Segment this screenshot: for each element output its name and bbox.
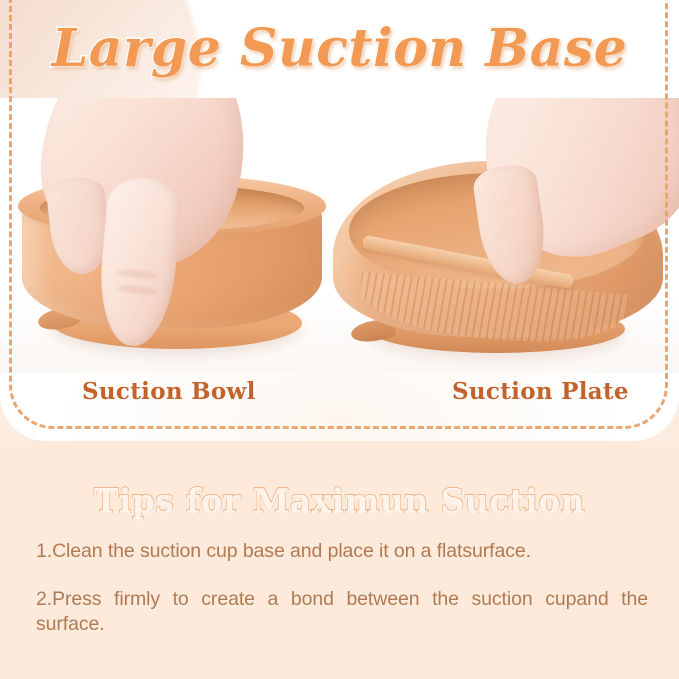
- title-container: Large Suction Base: [0, 22, 679, 77]
- hand-holding-plate: [461, 98, 679, 310]
- hand-holding-bowl: [44, 98, 254, 318]
- tips-section: Tips for Maximun Suction 1.Clean the suc…: [0, 441, 679, 679]
- product-photo-row: [0, 98, 679, 373]
- product-label-suction-bowl: Suction Bowl: [82, 378, 256, 405]
- product-photo-suction-plate: [333, 98, 679, 373]
- product-infographic: Large Suction Base Suction Bowl Suction …: [0, 0, 679, 679]
- product-label-suction-plate: Suction Plate: [452, 378, 629, 405]
- page-title: Large Suction Base: [52, 22, 628, 77]
- tip-item-2: 2.Press firmly to create a bond between …: [36, 587, 648, 638]
- knuckle-crease: [117, 268, 158, 279]
- knuckle-crease: [117, 284, 158, 295]
- product-photo-suction-bowl: [0, 98, 340, 373]
- product-showcase-card: Large Suction Base Suction Bowl Suction …: [0, 0, 679, 441]
- tip-item-1: 1.Clean the suction cup base and place i…: [36, 539, 648, 565]
- product-label-row: Suction Bowl Suction Plate: [0, 378, 679, 412]
- tips-heading: Tips for Maximun Suction: [0, 481, 679, 520]
- tips-list: 1.Clean the suction cup base and place i…: [36, 539, 648, 660]
